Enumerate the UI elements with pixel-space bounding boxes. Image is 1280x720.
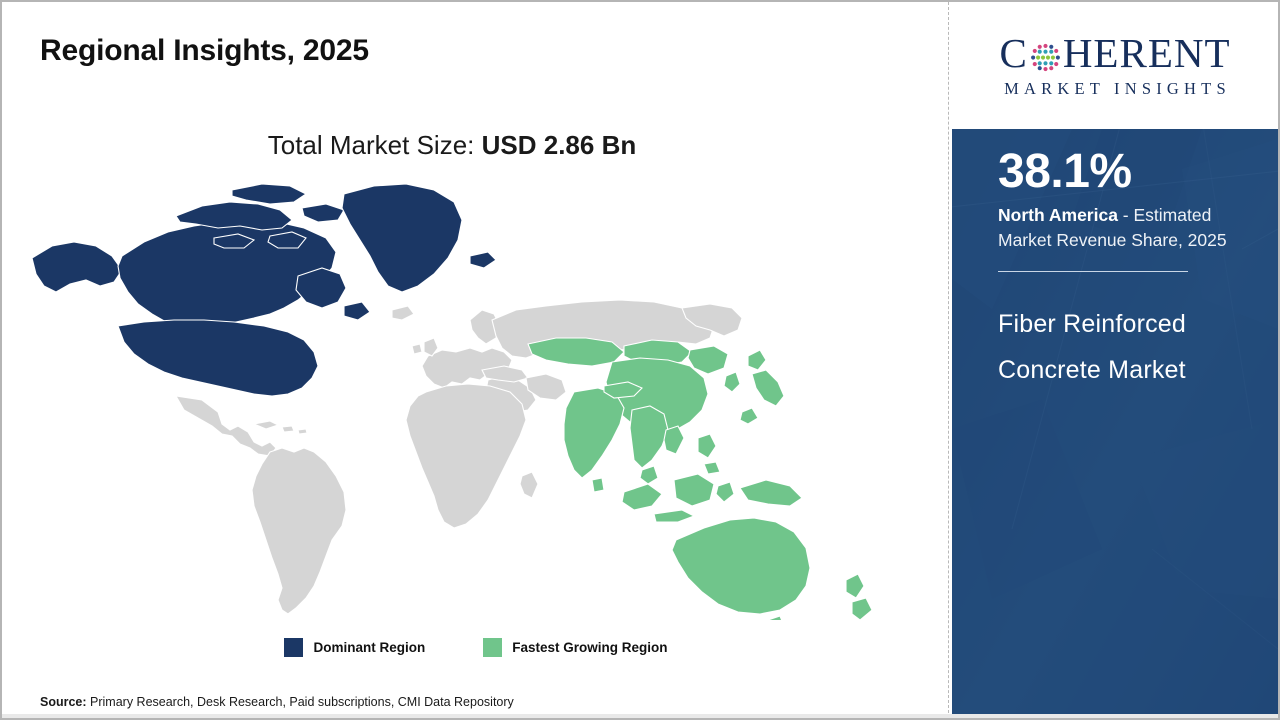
world-map-svg [26,180,906,620]
total-market-size: Total Market Size: USD 2.86 Bn [2,130,902,161]
source-text: Primary Research, Desk Research, Paid su… [87,695,514,709]
total-market-size-value: USD 2.86 Bn [482,130,637,160]
source-label: Source: [40,695,87,709]
world-map [26,180,906,620]
left-content-pane: Regional Insights, 2025 Total Market Siz… [2,2,950,718]
stat-percentage: 38.1% [998,147,1238,197]
stat-region-name: North America [998,205,1118,225]
brand-logo: C [952,2,1278,129]
bottom-strip [2,714,1278,718]
panel-divider-rule [998,271,1188,272]
market-name: Fiber Reinforced Concrete Market [998,302,1238,393]
stat-panel-content: 38.1% North America - Estimated Market R… [998,147,1238,393]
legend-swatch-fastest-growing [483,638,502,657]
logo-wordmark: C [999,33,1230,74]
total-market-size-label: Total Market Size: [268,130,475,160]
stat-panel: 38.1% North America - Estimated Market R… [952,129,1278,714]
infographic-canvas: Regional Insights, 2025 Total Market Siz… [0,0,1280,720]
source-note: Source: Primary Research, Desk Research,… [40,695,514,709]
legend-item-dominant: Dominant Region [284,638,425,657]
map-legend: Dominant Region Fastest Growing Region [2,638,950,657]
logo-word-right: HERENT [1063,33,1231,74]
logo-subtitle: MARKET INSIGHTS [999,79,1231,99]
legend-swatch-dominant [284,638,303,657]
dotted-globe-icon [1029,40,1062,73]
page-title: Regional Insights, 2025 [40,34,369,68]
vertical-dashed-divider [948,2,949,718]
map-fastest-growing-regions [528,338,872,620]
stat-description: North America - Estimated Market Revenue… [998,203,1238,253]
legend-label-fastest-growing: Fastest Growing Region [512,640,667,655]
logo-word-left: C [999,33,1027,74]
legend-item-fastest-growing: Fastest Growing Region [483,638,667,657]
legend-label-dominant: Dominant Region [313,640,425,655]
